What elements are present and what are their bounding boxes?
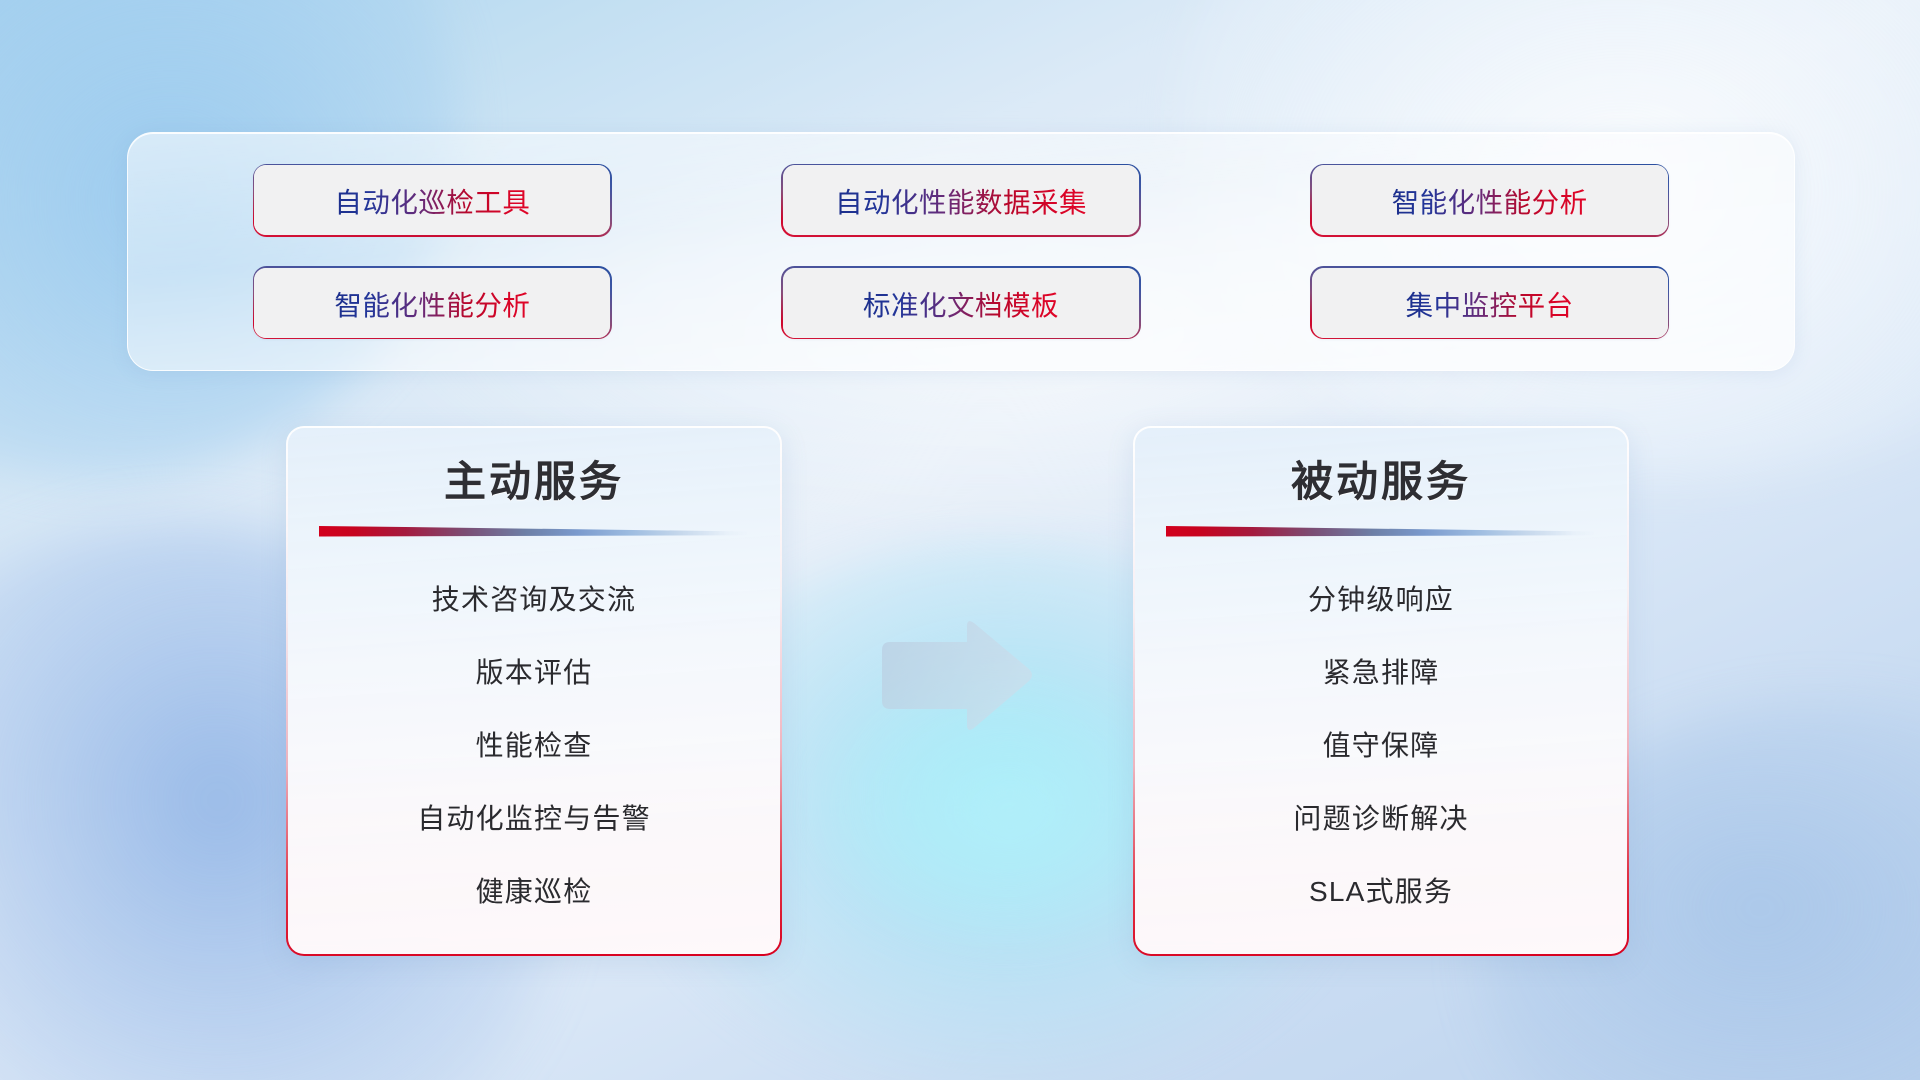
proactive-card-title: 主动服务 bbox=[444, 456, 624, 509]
capability-pill-label-2: 自动化性能数据采集 bbox=[835, 180, 1087, 220]
proactive-card-divider bbox=[319, 525, 749, 541]
capability-pill-label-5: 标准化文档模板 bbox=[863, 283, 1059, 323]
list-item: SLA式服务 bbox=[1309, 855, 1453, 928]
capability-pill-label-6: 集中监控平台 bbox=[1406, 283, 1574, 323]
list-item: 性能检查 bbox=[476, 709, 593, 782]
capability-pill-5[interactable]: 标准化文档模板 bbox=[783, 268, 1139, 338]
capability-pill-6[interactable]: 集中监控平台 bbox=[1312, 268, 1668, 338]
capability-pill-3[interactable]: 智能化性能分析 bbox=[1312, 165, 1668, 235]
reactive-card-divider bbox=[1166, 525, 1596, 541]
list-item: 紧急排障 bbox=[1323, 636, 1440, 709]
proactive-card-body: 主动服务 技术咨询及交流 版本评估 性能检查 自动化监控与告警 健康巡检 bbox=[288, 428, 780, 954]
list-item: 问题诊断解决 bbox=[1293, 782, 1468, 855]
proactive-service-list: 技术咨询及交流 版本评估 性能检查 自动化监控与告警 健康巡检 bbox=[288, 563, 780, 928]
reactive-card-title: 被动服务 bbox=[1291, 456, 1471, 509]
gradient-divider-bar bbox=[319, 525, 749, 537]
reactive-service-list: 分钟级响应 紧急排障 值守保障 问题诊断解决 SLA式服务 bbox=[1135, 563, 1627, 928]
gradient-divider-bar bbox=[1166, 525, 1596, 537]
list-item: 自动化监控与告警 bbox=[417, 782, 651, 855]
list-item: 分钟级响应 bbox=[1308, 563, 1454, 636]
slide-canvas: 自动化巡检工具 自动化性能数据采集 智能化性能分析 智能化性能分析 标准化文档模… bbox=[0, 0, 1920, 1080]
reactive-service-card[interactable]: 被动服务 分钟级响应 紧急排障 值守保障 问题诊断解决 SLA式服务 bbox=[1133, 426, 1629, 956]
capability-panel: 自动化巡检工具 自动化性能数据采集 智能化性能分析 智能化性能分析 标准化文档模… bbox=[127, 132, 1795, 371]
list-item: 值守保障 bbox=[1323, 709, 1440, 782]
list-item: 健康巡检 bbox=[476, 855, 593, 928]
reactive-card-body: 被动服务 分钟级响应 紧急排障 值守保障 问题诊断解决 SLA式服务 bbox=[1135, 428, 1627, 954]
capability-pill-1[interactable]: 自动化巡检工具 bbox=[254, 165, 610, 235]
capability-pill-4[interactable]: 智能化性能分析 bbox=[254, 268, 610, 338]
capability-pill-2[interactable]: 自动化性能数据采集 bbox=[783, 165, 1139, 235]
capability-pill-label-3: 智能化性能分析 bbox=[1392, 180, 1588, 220]
capability-pill-label-4: 智能化性能分析 bbox=[334, 283, 530, 323]
arrow-right-icon bbox=[872, 617, 1036, 735]
list-item: 版本评估 bbox=[476, 636, 593, 709]
list-item: 技术咨询及交流 bbox=[432, 563, 636, 636]
proactive-service-card[interactable]: 主动服务 技术咨询及交流 版本评估 性能检查 自动化监控与告警 健康巡检 bbox=[286, 426, 782, 956]
capability-pill-label-1: 自动化巡检工具 bbox=[334, 180, 530, 220]
